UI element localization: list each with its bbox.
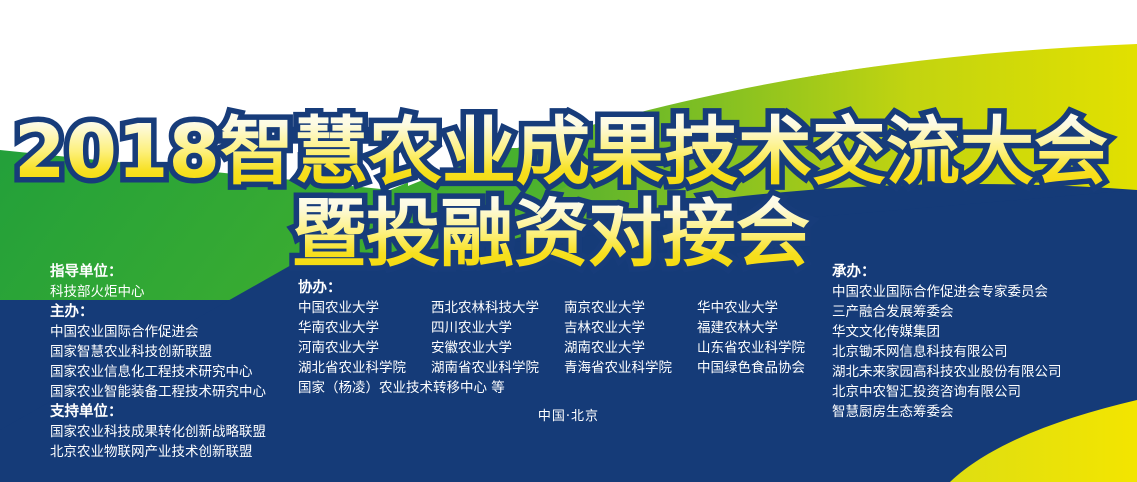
- conference-banner: 2018智慧农业成果技术交流大会 2018智慧农业成果技术交流大会 暨投融资对接…: [0, 0, 1137, 482]
- coorganizer-item: 中国农业大学: [298, 298, 431, 318]
- undertaker-item: 华文文化传媒集团: [832, 322, 1132, 342]
- coorganizer-item: 湖南省农业科学院: [431, 358, 564, 378]
- coorganizer-grid: 中国农业大学 西北农林科技大学 南京农业大学 华中农业大学 华南农业大学 四川农…: [298, 298, 818, 378]
- coorganizer-item: 南京农业大学: [564, 298, 697, 318]
- undertaker-item: 北京中农智汇投资咨询有限公司: [832, 382, 1132, 402]
- coorganizer-item: 福建农林大学: [697, 318, 817, 338]
- credits-column-left: 指导单位： 科技部火炬中心 主办： 中国农业国际合作促进会 国家智慧农业科技创新…: [50, 262, 290, 462]
- coorganizer-item: 西北农林科技大学: [431, 298, 564, 318]
- organizer-item: 中国农业国际合作促进会: [50, 322, 290, 342]
- coorganizer-item: 华南农业大学: [298, 318, 431, 338]
- support-item: 国家农业科技成果转化创新战略联盟: [50, 422, 290, 442]
- credits-block: 指导单位： 科技部火炬中心 主办： 中国农业国际合作促进会 国家智慧农业科技创新…: [0, 258, 1137, 482]
- coorganizer-item: 华中农业大学: [697, 298, 817, 318]
- coorganizer-item: 河南农业大学: [298, 338, 431, 358]
- undertaker-item: 中国农业国际合作促进会专家委员会: [832, 282, 1132, 302]
- credits-column-coorganizer: 协办： 中国农业大学 西北农林科技大学 南京农业大学 华中农业大学 华南农业大学…: [298, 278, 818, 398]
- coorganizer-item: 青海省农业科学院: [564, 358, 697, 378]
- undertaker-item: 湖北未来家园高科技农业股份有限公司: [832, 362, 1132, 382]
- coorganizer-item: 安徽农业大学: [431, 338, 564, 358]
- undertaker-item: 三产融合发展筹委会: [832, 302, 1132, 322]
- guidance-header: 指导单位：: [50, 262, 290, 282]
- organizer-item: 国家农业信息化工程技术研究中心: [50, 362, 290, 382]
- location-label: 中国·北京: [0, 405, 1137, 424]
- undertaker-item: 北京锄禾网信息科技有限公司: [832, 342, 1132, 362]
- coorganizer-item: 中国绿色食品协会: [697, 358, 817, 378]
- undertaker-header: 承办：: [832, 262, 1132, 282]
- credits-column-undertaker: 承办： 中国农业国际合作促进会专家委员会 三产融合发展筹委会 华文文化传媒集团 …: [832, 262, 1132, 422]
- organizer-item: 国家农业智能装备工程技术研究中心: [50, 382, 290, 402]
- support-item: 北京农业物联网产业技术创新联盟: [50, 442, 290, 462]
- coorganizer-last-line: 国家（杨凌）农业技术转移中心 等: [298, 378, 818, 398]
- coorganizer-item: 山东省农业科学院: [697, 338, 817, 358]
- coorganizer-header: 协办：: [298, 278, 818, 298]
- coorganizer-item: 四川农业大学: [431, 318, 564, 338]
- guidance-item: 科技部火炬中心: [50, 282, 290, 302]
- coorganizer-item: 吉林农业大学: [564, 318, 697, 338]
- coorganizer-item: 湖北省农业科学院: [298, 358, 431, 378]
- organizer-item: 国家智慧农业科技创新联盟: [50, 342, 290, 362]
- organizer-header: 主办：: [50, 302, 290, 322]
- coorganizer-item: 湖南农业大学: [564, 338, 697, 358]
